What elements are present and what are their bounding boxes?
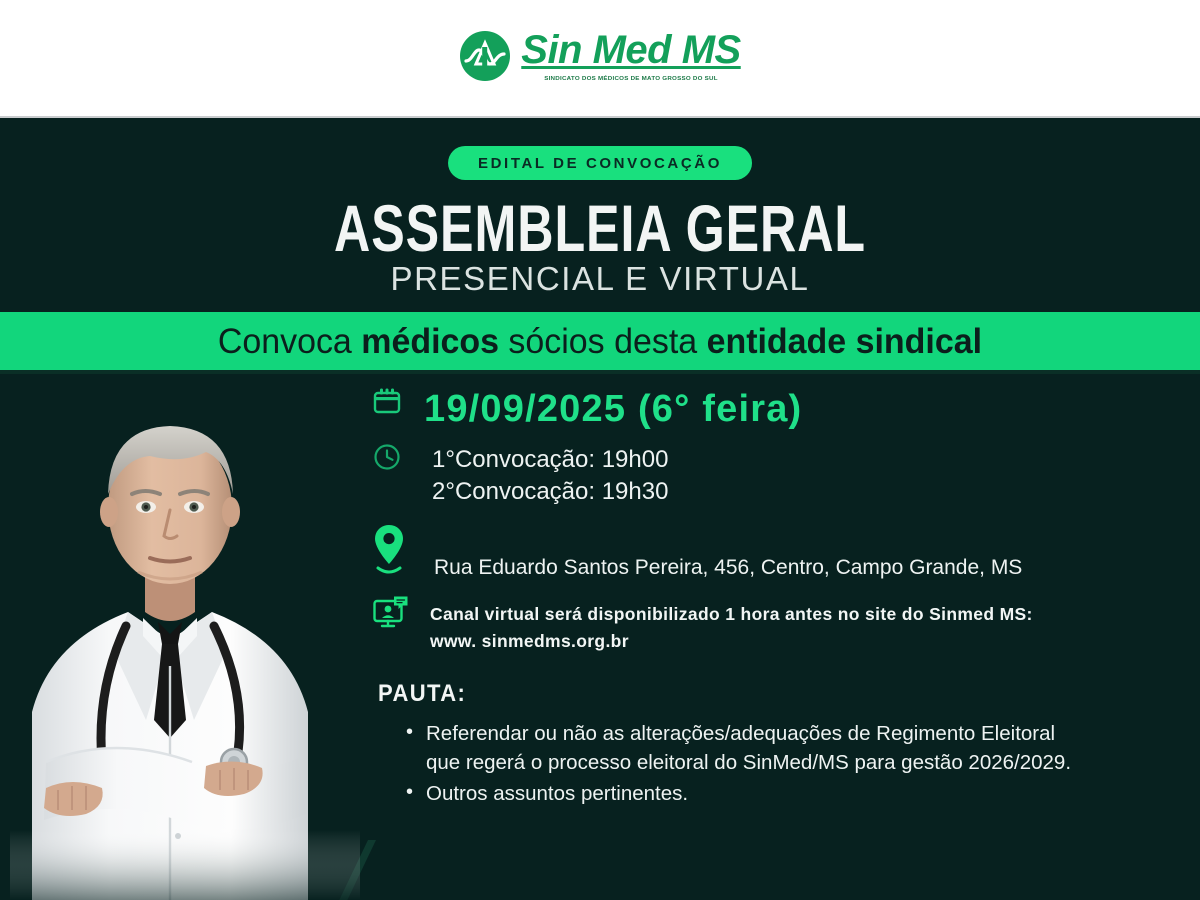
- page-title: ASSEMBLEIA GERAL: [42, 196, 1158, 262]
- agenda-heading: PAUTA:: [378, 679, 1172, 708]
- convocation-banner-text: Convoca médicos sócios desta entidade si…: [218, 324, 982, 359]
- doctor-portrait: [10, 390, 360, 900]
- agenda-item: Referendar ou não as alterações/adequaçõ…: [406, 719, 1172, 777]
- time-first-call: 1°Convocação: 19h00: [432, 444, 668, 476]
- banner-segment-2: médicos: [361, 322, 499, 361]
- convocation-banner: Convoca médicos sócios desta entidade si…: [0, 312, 1200, 374]
- clock-icon-cell: [372, 442, 424, 472]
- detail-row-date: 19/09/2025 (6° feira): [372, 386, 1172, 428]
- banner-segment-3: sócios desta: [499, 322, 707, 361]
- video-conference-icon: [372, 595, 410, 633]
- calendar-icon-cell: [372, 386, 424, 416]
- agenda-item-line2: que regerá o processo eleitoral do SinMe…: [426, 748, 1172, 777]
- time-list: 1°Convocação: 19h00 2°Convocação: 19h30: [424, 442, 668, 507]
- event-address: Rua Eduardo Santos Pereira, 456, Centro,…: [424, 523, 1022, 580]
- agenda-item-line1: Outros assuntos pertinentes.: [426, 782, 688, 805]
- clock-icon: [372, 442, 402, 472]
- banner-segment-4: entidade sindical: [707, 322, 982, 361]
- sinmed-logo-mark-icon: [459, 30, 511, 82]
- agenda-list: Referendar ou não as alterações/adequaçõ…: [406, 719, 1172, 808]
- detail-row-virtual: Canal virtual será disponibilizado 1 hor…: [372, 595, 1172, 655]
- logo: Sin Med MS SINDICATO DOS MÉDICOS DE MATO…: [459, 30, 740, 82]
- logo-subtitle: SINDICATO DOS MÉDICOS DE MATO GROSSO DO …: [544, 75, 718, 81]
- agenda-item-line1: Referendar ou não as alterações/adequaçõ…: [426, 722, 1055, 745]
- event-details: 19/09/2025 (6° feira) 1°Convocação: 19h0…: [372, 386, 1172, 810]
- poster-canvas: Sin Med MS SINDICATO DOS MÉDICOS DE MATO…: [0, 0, 1200, 900]
- detail-row-time: 1°Convocação: 19h00 2°Convocação: 19h30: [372, 442, 1172, 507]
- header-bar: Sin Med MS SINDICATO DOS MÉDICOS DE MATO…: [0, 0, 1200, 118]
- video-icon-cell: [372, 595, 424, 633]
- page-subtitle: PRESENCIAL E VIRTUAL: [0, 262, 1200, 295]
- location-pin-icon: [372, 523, 406, 577]
- logo-wordmark: Sin Med MS: [521, 30, 740, 70]
- virtual-line-2[interactable]: www. sinmedms.org.br: [430, 628, 1033, 655]
- virtual-line-1: Canal virtual será disponibilizado 1 hor…: [430, 601, 1033, 628]
- agenda-item: Outros assuntos pertinentes.: [406, 779, 1172, 808]
- banner-segment-1: Convoca: [218, 322, 361, 361]
- event-date: 19/09/2025 (6° feira): [424, 386, 802, 428]
- location-icon-cell: [372, 523, 424, 577]
- virtual-channel-text: Canal virtual será disponibilizado 1 hor…: [424, 595, 1033, 655]
- calendar-icon: [372, 386, 402, 416]
- time-second-call: 2°Convocação: 19h30: [432, 476, 668, 508]
- detail-row-place: Rua Eduardo Santos Pereira, 456, Centro,…: [372, 523, 1172, 580]
- edital-badge: EDITAL DE CONVOCAÇÃO: [448, 146, 752, 180]
